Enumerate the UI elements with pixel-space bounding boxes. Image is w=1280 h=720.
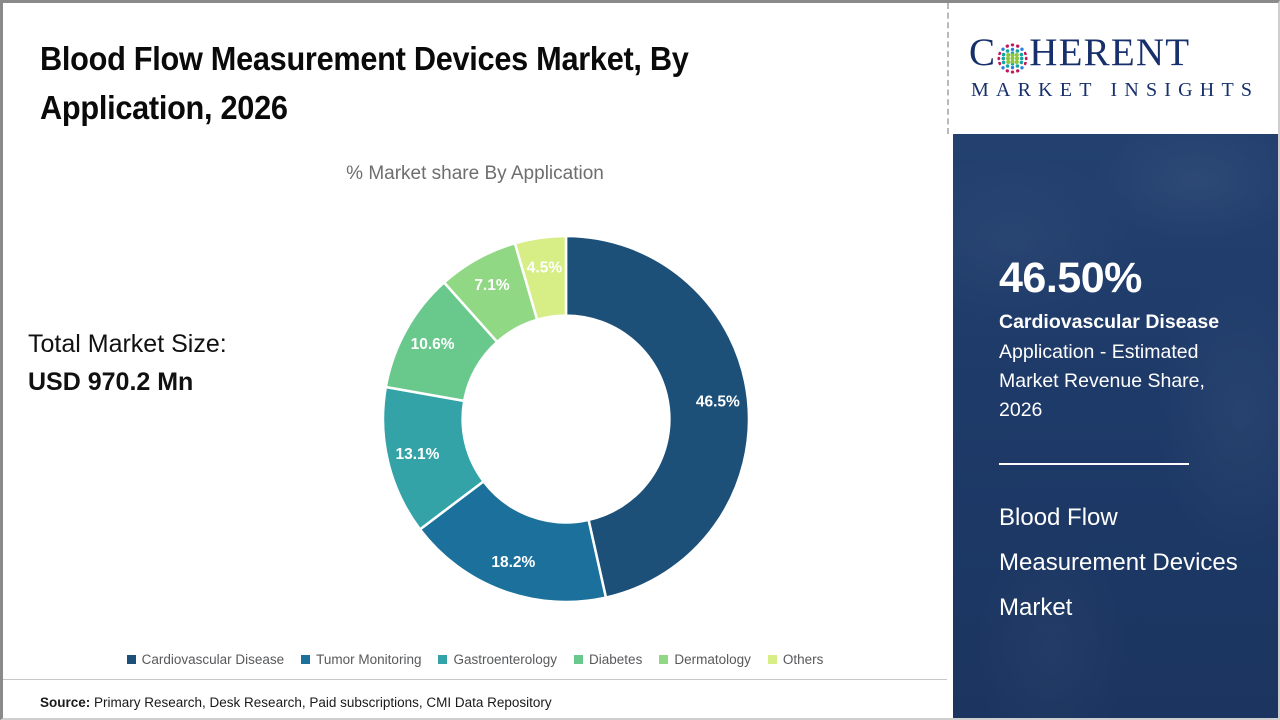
legend-item[interactable]: Others — [768, 652, 824, 667]
total-market-size-value: USD 970.2 Mn — [28, 363, 328, 401]
total-market-size-label: Total Market Size: — [28, 325, 328, 363]
market-infographic-page: Blood Flow Measurement Devices Market, B… — [0, 0, 1280, 720]
legend-label: Cardiovascular Disease — [142, 652, 285, 667]
stat-description: Application - Estimated Market Revenue S… — [999, 338, 1239, 425]
sidebar-market-name: Blood Flow Measurement Devices Market — [999, 495, 1249, 630]
donut-chart-svg: 46.5%18.2%13.1%10.6%7.1%4.5% — [381, 231, 751, 606]
legend-swatch — [127, 655, 136, 664]
footer-source-text: Primary Research, Desk Research, Paid su… — [90, 695, 551, 710]
brand-tagline: MARKET INSIGHTS — [971, 79, 1271, 102]
sidebar: C — [953, 3, 1280, 720]
sidebar-content: 46.50% Cardiovascular Disease Applicatio… — [953, 134, 1280, 720]
stat-category: Cardiovascular Disease — [999, 311, 1249, 334]
legend-swatch — [301, 655, 310, 664]
chart-pane: Blood Flow Measurement Devices Market, B… — [3, 3, 947, 720]
legend-swatch — [438, 655, 447, 664]
donut-slice-label: 7.1% — [474, 277, 510, 294]
chart-legend: Cardiovascular DiseaseTumor MonitoringGa… — [3, 652, 947, 667]
donut-chart: 46.5%18.2%13.1%10.6%7.1%4.5% — [381, 231, 751, 606]
brand-wordmark: C — [969, 30, 1269, 74]
legend-label: Dermatology — [674, 652, 751, 667]
total-market-size-block: Total Market Size: USD 970.2 Mn — [28, 325, 328, 401]
sidebar-stat-panel: 46.50% Cardiovascular Disease Applicatio… — [953, 134, 1280, 720]
page-title: Blood Flow Measurement Devices Market, B… — [40, 34, 840, 132]
chart-subtitle: % Market share By Application — [3, 163, 947, 185]
brand-letters-herent: HERENT — [1029, 30, 1190, 75]
legend-swatch — [659, 655, 668, 664]
donut-slice-label: 4.5% — [527, 259, 563, 276]
globe-dots-icon — [997, 39, 1028, 70]
footer-divider — [3, 679, 947, 680]
legend-item[interactable]: Diabetes — [574, 652, 642, 667]
donut-slice-label: 13.1% — [395, 446, 439, 463]
footer-source-label: Source: — [40, 695, 90, 710]
brand-logo-area: C — [953, 3, 1280, 134]
sidebar-divider-rule — [999, 463, 1189, 465]
legend-item[interactable]: Gastroenterology — [438, 652, 557, 667]
legend-swatch — [768, 655, 777, 664]
stat-percent: 46.50% — [999, 254, 1142, 303]
vertical-dashed-divider — [947, 3, 949, 134]
footer-source: Source: Primary Research, Desk Research,… — [40, 695, 552, 710]
donut-slice-label: 18.2% — [491, 554, 535, 571]
legend-swatch — [574, 655, 583, 664]
legend-item[interactable]: Dermatology — [659, 652, 751, 667]
brand-letter-c: C — [969, 30, 996, 75]
legend-label: Others — [783, 652, 824, 667]
donut-slice-label: 10.6% — [411, 336, 455, 353]
legend-item[interactable]: Tumor Monitoring — [301, 652, 421, 667]
legend-label: Tumor Monitoring — [316, 652, 421, 667]
donut-slice-label: 46.5% — [696, 394, 740, 411]
legend-label: Diabetes — [589, 652, 642, 667]
donut-slice-group — [383, 236, 749, 602]
legend-label: Gastroenterology — [453, 652, 557, 667]
legend-item[interactable]: Cardiovascular Disease — [127, 652, 285, 667]
